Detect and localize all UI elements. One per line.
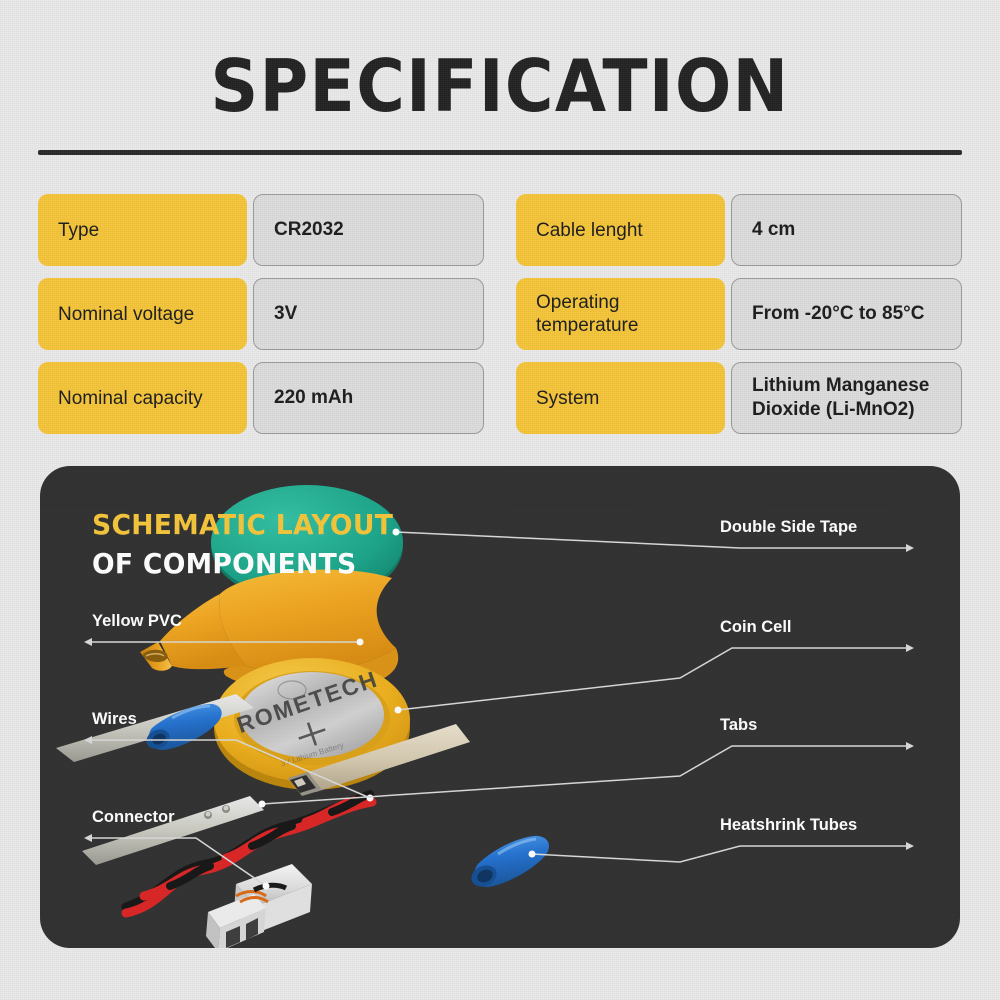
spec-value: 220 mAh [253, 362, 484, 434]
schematic-panel: ROMETECH 3V Lithium Battery [40, 466, 960, 948]
title-divider [38, 150, 962, 155]
spec-value: Lithium Manganese Dioxide (Li-MnO2) [731, 362, 962, 434]
spec-column-left: Type CR2032 Nominal voltage 3V Nominal c… [38, 194, 484, 434]
spec-value: 4 cm [731, 194, 962, 266]
heatshrink-blue-upper-part [143, 704, 221, 752]
callout-label-coin-cell: Coin Cell [720, 618, 792, 637]
specification-table: Type CR2032 Nominal voltage 3V Nominal c… [38, 194, 962, 434]
heatshrink-blue-lower-part [468, 836, 549, 890]
table-row: Nominal voltage 3V [38, 278, 484, 350]
spec-label: Operating temperature [516, 278, 725, 350]
spec-value: CR2032 [253, 194, 484, 266]
spec-value: 3V [253, 278, 484, 350]
schematic-heading: SCHEMATIC LAYOUT OF COMPONENTS [92, 508, 409, 580]
schematic-heading-line2: OF COMPONENTS [92, 547, 393, 580]
spec-label: Cable lenght [516, 194, 725, 266]
spec-label: System [516, 362, 725, 434]
schematic-heading-line1: SCHEMATIC LAYOUT [92, 508, 393, 541]
callout-label-connector: Connector [92, 808, 175, 827]
spec-label: Type [38, 194, 247, 266]
table-row: System Lithium Manganese Dioxide (Li-MnO… [516, 362, 962, 434]
callout-label-heatshrink-tubes: Heatshrink Tubes [720, 816, 857, 835]
callout-label-yellow-pvc: Yellow PVC [92, 612, 182, 631]
spec-label: Nominal capacity [38, 362, 247, 434]
table-row: Cable lenght 4 cm [516, 194, 962, 266]
callout-label-double-side-tape: Double Side Tape [720, 518, 857, 537]
connector-part [206, 864, 312, 948]
page-title: SPECIFICATION [40, 48, 960, 124]
table-row: Operating temperature From -20°C to 85°C [516, 278, 962, 350]
table-row: Type CR2032 [38, 194, 484, 266]
callout-label-tabs: Tabs [720, 716, 757, 735]
callout-label-wires: Wires [92, 710, 137, 729]
spec-label: Nominal voltage [38, 278, 247, 350]
table-row: Nominal capacity 220 mAh [38, 362, 484, 434]
spec-column-right: Cable lenght 4 cm Operating temperature … [516, 194, 962, 434]
spec-value: From -20°C to 85°C [731, 278, 962, 350]
